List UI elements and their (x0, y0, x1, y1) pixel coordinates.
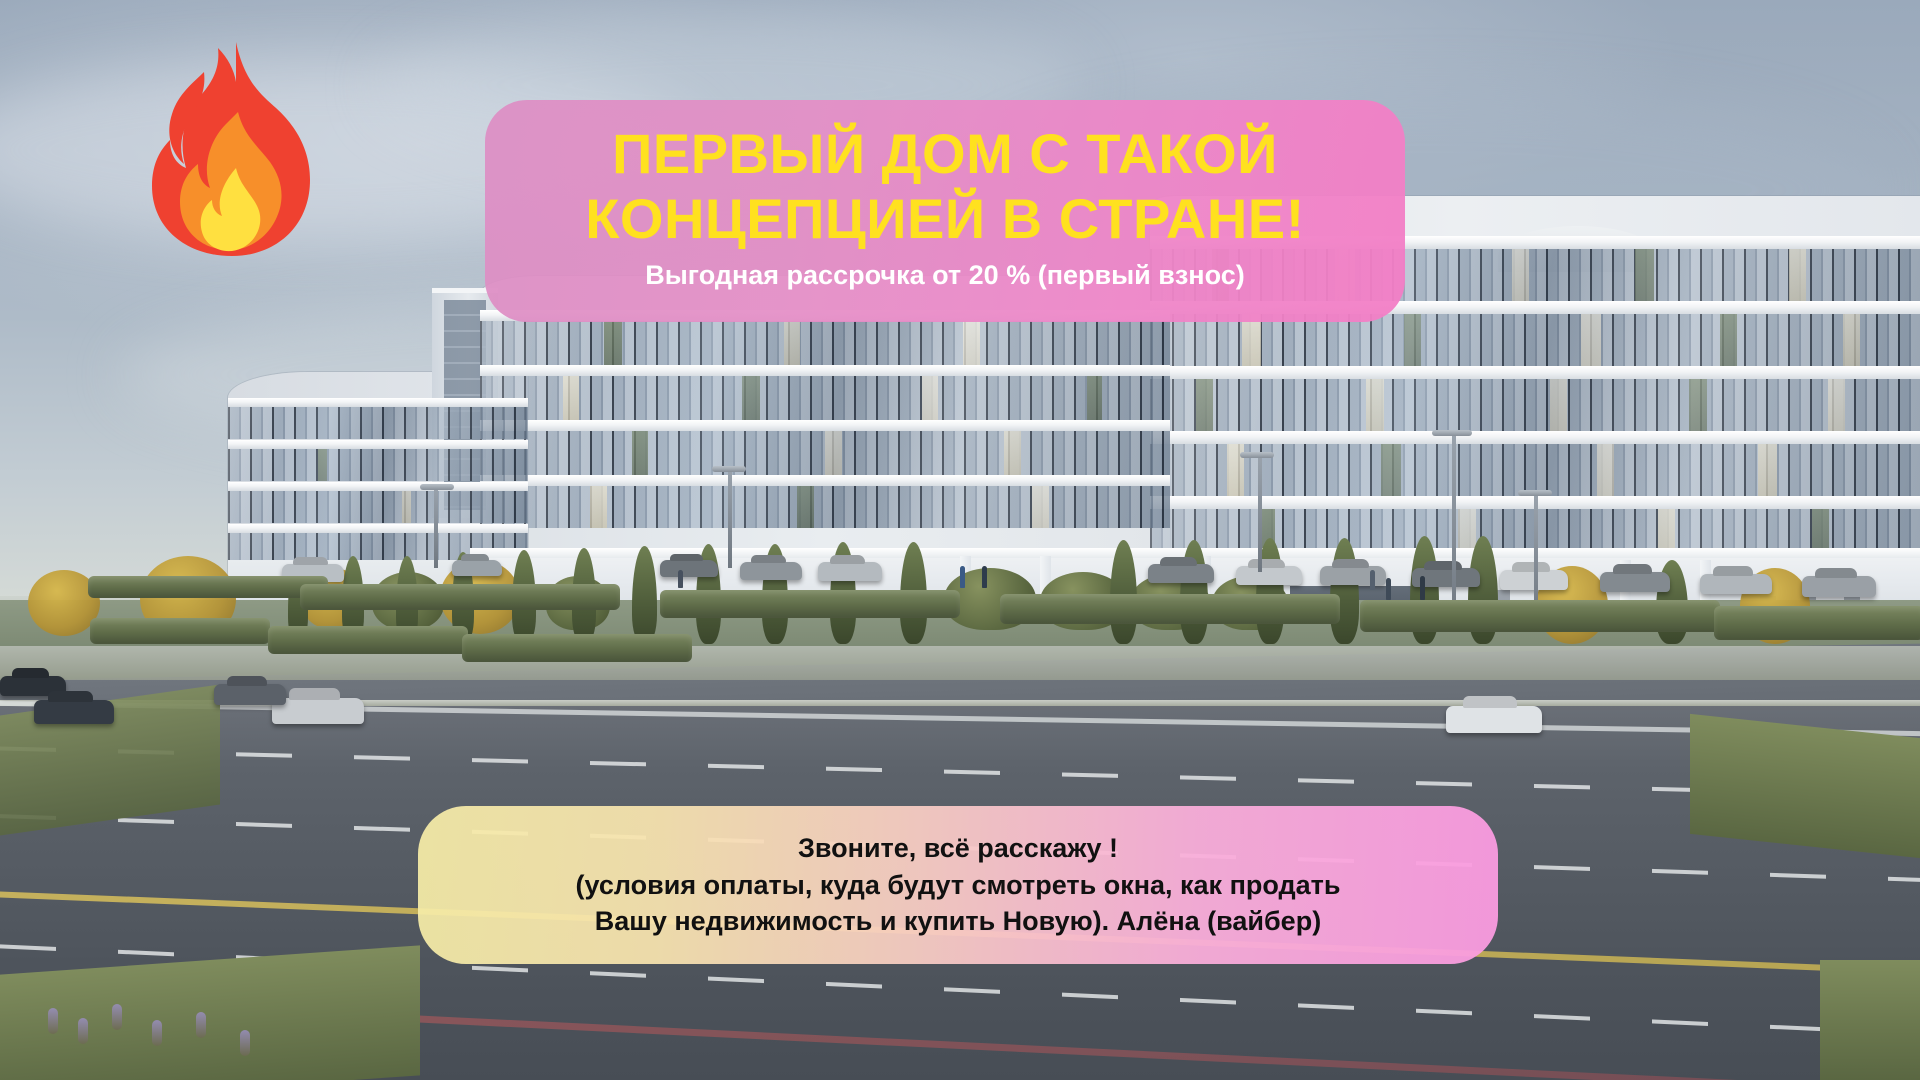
car (740, 562, 802, 580)
contact-line-1: Звоните, всё расскажу ! (798, 830, 1118, 867)
pedestrian (960, 566, 965, 588)
street-lamp-pole (1258, 454, 1262, 572)
car (1700, 574, 1772, 594)
pedestrian (1386, 578, 1391, 600)
hedge (1360, 600, 1720, 632)
headline-subtitle: Выгодная рассрочка от 20 % (первый взнос… (645, 260, 1244, 291)
hedge (88, 576, 328, 598)
hedge (1714, 606, 1920, 640)
car (1600, 572, 1670, 592)
headline-line-1: ПЕРВЫЙ ДОМ С ТАКОЙ (612, 122, 1278, 187)
street-lamp-pole (1452, 432, 1456, 628)
car (660, 560, 718, 577)
cyclist (1420, 576, 1425, 600)
street-lamp-pole (434, 486, 438, 568)
contact-line-2: (условия оплаты, куда будут смотреть окн… (575, 867, 1340, 904)
pedestrian (982, 566, 987, 588)
pedestrian (1370, 570, 1375, 590)
flower (78, 1018, 88, 1044)
flower (48, 1008, 58, 1034)
street-lamp-head (420, 484, 454, 490)
car (1320, 566, 1386, 585)
hedge (300, 584, 620, 610)
fire-icon (152, 42, 310, 256)
car (214, 684, 286, 705)
flower (196, 1012, 206, 1038)
hedge (660, 590, 960, 618)
street-lamp-head (712, 466, 746, 472)
car (1236, 566, 1302, 585)
car (1446, 706, 1542, 733)
street-lamp-head (1432, 430, 1472, 436)
contact-line-3: Вашу недвижимость и купить Новую). Алёна… (595, 903, 1321, 940)
contact-card: Звоните, всё расскажу ! (условия оплаты,… (418, 806, 1498, 964)
hedge (1000, 594, 1340, 624)
hedge (90, 618, 270, 644)
hedge (462, 634, 692, 662)
car (818, 562, 882, 581)
street-lamp-head (1240, 452, 1274, 458)
grass-verge (1690, 714, 1920, 858)
fire-emoji-badge (140, 36, 316, 260)
headline-line-2: КОНЦЕПЦИЕЙ В СТРАНЕ! (585, 187, 1305, 252)
car (34, 700, 114, 724)
flower (152, 1020, 162, 1046)
headline-card: ПЕРВЫЙ ДОМ С ТАКОЙ КОНЦЕПЦИЕЙ В СТРАНЕ! … (485, 100, 1405, 322)
car (1802, 576, 1876, 597)
hedge (268, 626, 468, 654)
street-lamp-pole (728, 468, 732, 568)
pedestrian (678, 570, 683, 588)
car (1148, 564, 1214, 583)
street-lamp-head (1518, 490, 1552, 496)
flower (112, 1004, 122, 1030)
flower (240, 1030, 250, 1056)
grass-verge (1820, 960, 1920, 1080)
real-estate-promo-poster: ПЕРВЫЙ ДОМ С ТАКОЙ КОНЦЕПЦИЕЙ В СТРАНЕ! … (0, 0, 1920, 1080)
car (452, 560, 502, 576)
